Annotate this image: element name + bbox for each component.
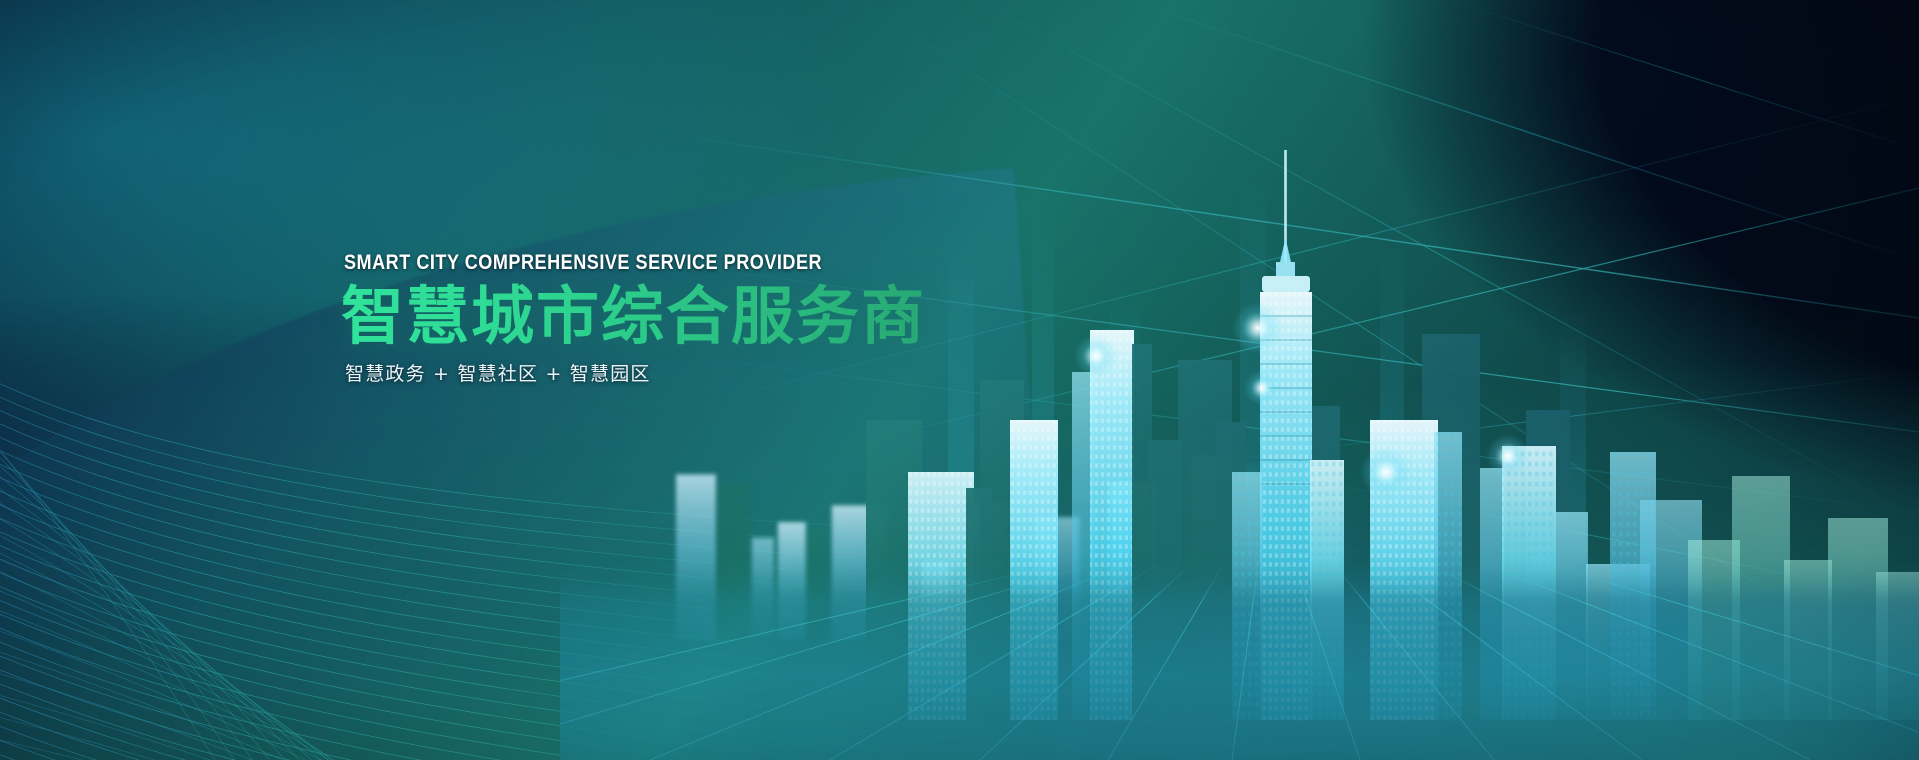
ground-grid bbox=[560, 550, 1919, 760]
eyebrow-text: SMART CITY COMPREHENSIVE SERVICE PROVIDE… bbox=[344, 252, 845, 273]
subtitle-text: 智慧政务 + 智慧社区 + 智慧园区 bbox=[345, 365, 926, 384]
headline-block: SMART CITY COMPREHENSIVE SERVICE PROVIDE… bbox=[343, 252, 926, 384]
smart-city-banner: SMART CITY COMPREHENSIVE SERVICE PROVIDE… bbox=[0, 0, 1919, 760]
page-title: 智慧城市综合服务商 bbox=[341, 283, 926, 351]
